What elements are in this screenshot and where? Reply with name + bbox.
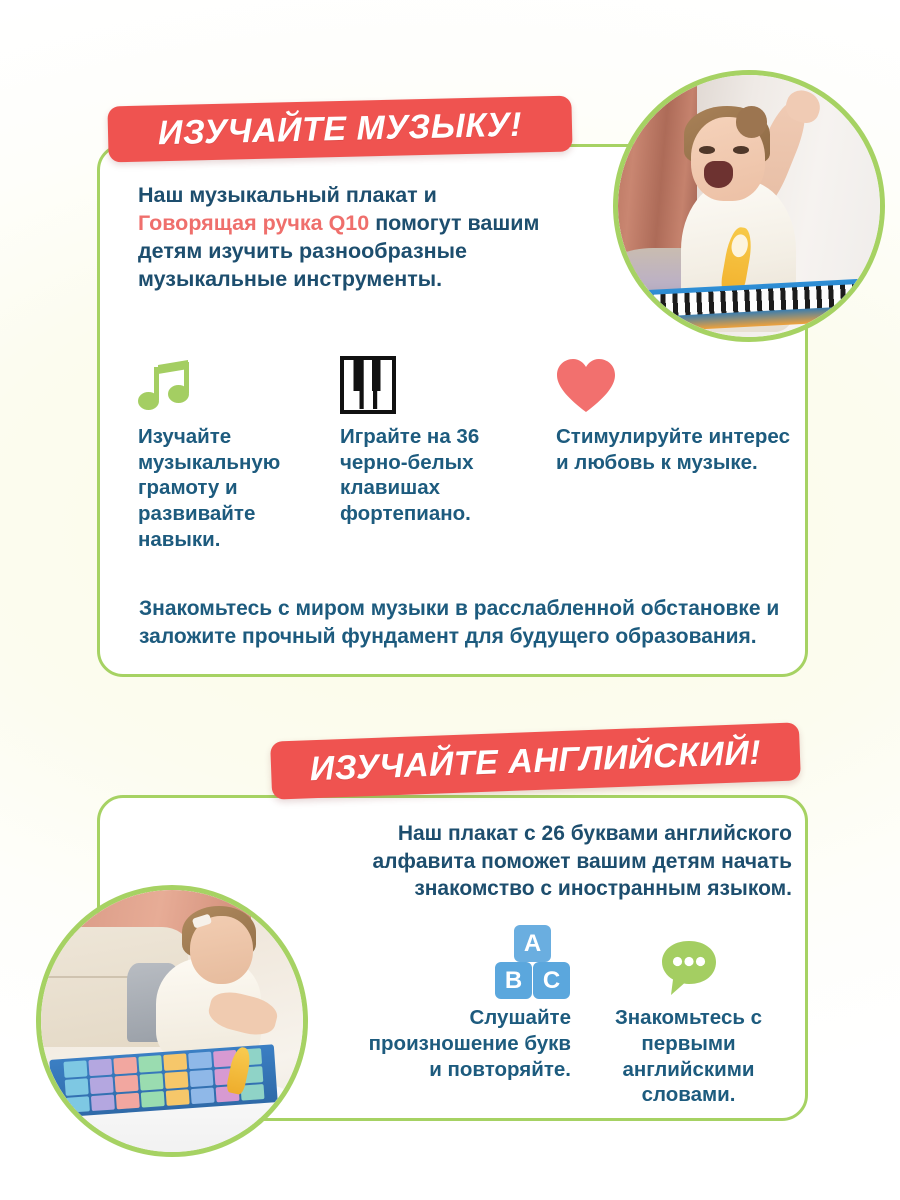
music-section-title: ИЗУЧАЙТЕ МУЗЫКУ! (158, 105, 523, 153)
english-feature-words-text: Знакомьтесь с первыми английскими словам… (615, 1006, 762, 1106)
music-feature-heart: Стимулируйте интерес и любовь к музыке. (556, 352, 796, 475)
music-section-ribbon: ИЗУЧАЙТЕ МУЗЫКУ! (107, 96, 572, 163)
music-note-icon (138, 352, 323, 414)
heart-icon (556, 352, 796, 414)
abc-blocks-icon: A B C (366, 925, 571, 999)
music-intro-highlight: Говорящая ручка Q10 (138, 211, 369, 235)
english-section-title: ИЗУЧАЙТЕ АНГЛИЙСКИЙ! (309, 733, 762, 789)
music-intro-line1: Наш музыкальный плакат и (138, 183, 437, 207)
music-feature-heart-text: Стимулируйте интерес и любовь к музыке. (556, 425, 790, 474)
music-outro-text: Знакомьтесь с миром музыки в расслабленн… (139, 595, 789, 651)
music-feature-piano-text: Играйте на 36 черно-белых клавишах форте… (340, 425, 479, 525)
piano-keys-icon (340, 352, 530, 414)
abc-block-c: C (533, 962, 570, 999)
english-feature-abc: A B C Слушайте произношение букв и повто… (366, 925, 571, 1082)
music-intro-text: Наш музыкальный плакат и Говорящая ручка… (138, 182, 558, 294)
abc-block-b: B (495, 962, 532, 999)
music-section-photo (613, 70, 885, 342)
music-feature-notes: Изучайте музыкальную грамоту и развивайт… (138, 352, 323, 552)
promo-page: ИЗУЧАЙТЕ МУЗЫКУ! Наш музыкальный плакат … (0, 0, 900, 1200)
english-section-photo (36, 885, 308, 1157)
abc-block-a: A (514, 925, 551, 962)
english-section-ribbon: ИЗУЧАЙТЕ АНГЛИЙСКИЙ! (270, 722, 801, 799)
english-intro-text: Наш плакат с 26 буквами английского алфа… (290, 820, 792, 903)
music-photo-scene (618, 75, 880, 337)
speech-bubble-icon (586, 925, 791, 999)
english-feature-abc-text: Слушайте произношение букв и повторяйте. (369, 1006, 571, 1081)
english-feature-words: Знакомьтесь с первыми английскими словам… (586, 925, 791, 1108)
music-feature-notes-text: Изучайте музыкальную грамоту и развивайт… (138, 425, 280, 551)
music-feature-piano: Играйте на 36 черно-белых клавишах форте… (340, 352, 530, 527)
english-photo-scene (41, 890, 303, 1152)
